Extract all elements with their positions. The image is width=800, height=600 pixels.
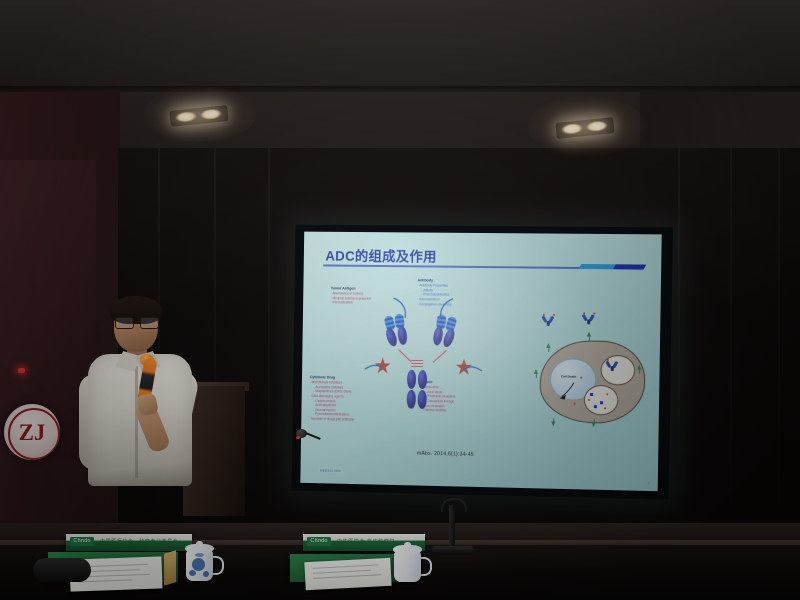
block-tumor-antigen: Tumor Antigen Abundance in tumors Minima… — [330, 286, 371, 305]
adc-molecule — [543, 316, 556, 327]
mic-status-led — [296, 436, 300, 439]
drug-payload-star — [375, 357, 391, 373]
folder-edge — [164, 550, 176, 585]
antibody-fab-lobe — [441, 328, 456, 349]
receptor-icon — [637, 364, 641, 369]
slide-watermark: MEDSCI.ORG — [318, 467, 343, 473]
projected-slide: ADC的组成及作用 Tumor Antigen Abundance in tum… — [300, 232, 661, 492]
ceiling-bulb — [175, 110, 198, 123]
block-antibody: Antibody Antibody Properties Affinity Ph… — [417, 278, 452, 306]
lectern-microphone-head — [296, 429, 318, 441]
antibody-fc-lobe — [418, 390, 427, 409]
ceiling-bulb — [585, 120, 608, 133]
receptor-stem — [548, 348, 549, 352]
speaker — [78, 296, 206, 511]
receptor-icon — [587, 331, 591, 336]
name-placard: Chndo 中国医师协会・肿瘤专业委员会 — [66, 534, 192, 551]
accent-bar-dark — [613, 264, 646, 269]
slide-citation: mAbs. 2014,6(1):34-45 — [417, 451, 474, 458]
bullet: Internalization — [330, 301, 371, 306]
antibody-fc-lobe — [407, 370, 416, 389]
callout-arrow — [365, 365, 383, 369]
placard-text: 中华医学会 临床肿瘤学 — [337, 538, 395, 545]
block-heading: Antibody — [418, 278, 452, 283]
receptor-stem — [639, 370, 640, 374]
shirt-placket — [135, 366, 138, 478]
cup-knob — [196, 541, 203, 546]
porcelain-teacup-white — [391, 542, 425, 582]
adc-molecule — [583, 314, 596, 325]
placard-text: 中国医师协会・肿瘤专业委员会 — [100, 538, 178, 545]
eyeglasses-icon — [115, 317, 157, 328]
paper-document — [304, 558, 391, 590]
emblem-mark: ZJ — [17, 418, 47, 448]
released-payload — [600, 401, 603, 404]
microphone-stand-base — [432, 546, 474, 554]
receptor-icon — [546, 343, 550, 348]
cup-body — [394, 551, 421, 582]
receptor-icon — [534, 369, 538, 374]
slide-title: ADC的组成及作用 — [325, 245, 437, 266]
cup-knob — [404, 542, 411, 547]
photo-scene: ADC的组成及作用 Tumor Antigen Abundance in tum… — [0, 0, 800, 600]
porcelain-teacup-blue — [183, 541, 217, 581]
placard-logo: Chndo — [307, 537, 331, 546]
antibody-hinge — [411, 360, 423, 369]
ceiling-bulb — [199, 108, 222, 121]
antibody-fc-lobe — [418, 370, 427, 389]
microphone-stand — [449, 505, 455, 551]
ceiling — [0, 0, 800, 92]
antibody-diagram — [378, 316, 469, 437]
placard-logo: Chndo — [70, 537, 94, 546]
bullet: Conjugation chemistry — [417, 302, 451, 307]
antibody-fab-lobe — [384, 327, 399, 348]
institution-emblem: ZJ — [4, 404, 60, 460]
drug-payload-star — [456, 359, 472, 375]
projection-screen: ADC的组成及作用 Tumor Antigen Abundance in tum… — [291, 225, 673, 500]
adc-molecule-internalized — [607, 361, 620, 372]
antibody-fab-lobe — [397, 325, 408, 345]
receptor-stem — [536, 374, 537, 378]
exit-indicator-light — [18, 368, 25, 373]
ceiling-bulb — [561, 122, 584, 135]
receptor-icon — [551, 421, 555, 426]
slide-page-number: 7 — [648, 482, 650, 486]
callout-arrow — [464, 367, 482, 371]
receptor-stem — [589, 337, 590, 341]
released-payload — [590, 393, 593, 396]
foreground-equipment — [33, 558, 91, 582]
cell-mechanism-diagram: Cell Death — [527, 312, 655, 443]
receptor-icon — [591, 422, 595, 427]
block-cytotoxic-drug: Cytotoxic Drug Microtubule inhibitors Au… — [309, 375, 354, 422]
released-payload — [594, 405, 597, 408]
antibody-fc-lobe — [407, 390, 416, 409]
bullet: Number of drugs per antibody — [309, 417, 354, 422]
cup-body — [186, 550, 213, 581]
